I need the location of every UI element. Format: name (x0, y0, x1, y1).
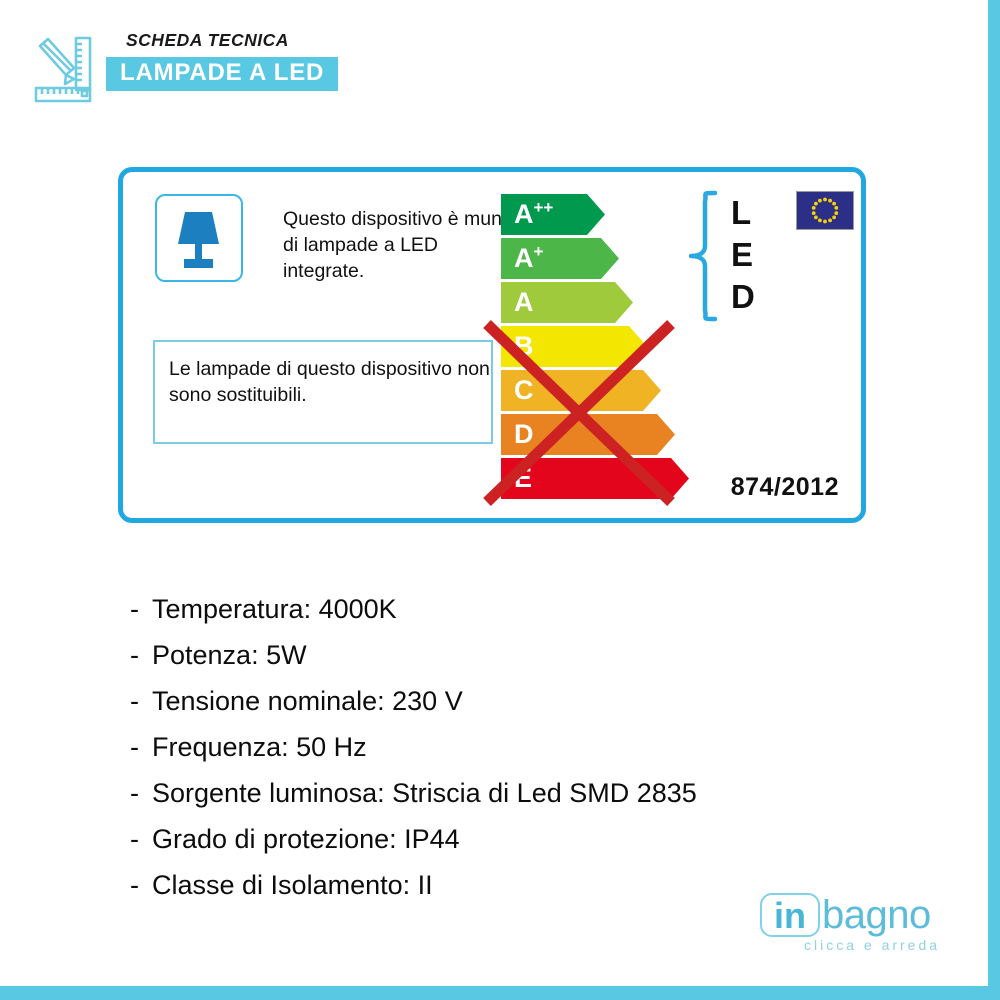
energy-bar-label: A+ (514, 238, 543, 279)
pencil-ruler-icon (28, 32, 102, 106)
energy-bar-row: C (501, 370, 701, 411)
spec-item-potenza: -Potenza: 5W (130, 632, 930, 678)
spec-bullet: - (130, 770, 152, 816)
spec-item-temperatura: -Temperatura: 4000K (130, 586, 930, 632)
page-title: LAMPADE A LED (106, 57, 338, 91)
led-letter-e: E (731, 234, 777, 276)
led-letter-l: L (731, 192, 777, 234)
spec-text: Potenza: 5W (152, 640, 307, 670)
spec-item-grado-protezione: -Grado di protezione: IP44 (130, 816, 930, 862)
energy-bar-b: B (501, 326, 701, 367)
energy-bar-row: A (501, 282, 701, 323)
energy-bar-label: A (514, 282, 534, 323)
energy-bar-a-plus-plus: A++ (501, 194, 701, 235)
logo-mark-in: in (760, 893, 820, 937)
frame-bottom-edge (0, 986, 1000, 1000)
header-texts: SCHEDA TECNICA LAMPADE A LED (106, 28, 446, 91)
energy-bar-row: A+ (501, 238, 701, 279)
page-eyebrow: SCHEDA TECNICA (106, 28, 446, 52)
spec-item-tensione: -Tensione nominale: 230 V (130, 678, 930, 724)
spec-bullet: - (130, 724, 152, 770)
led-letters: L E D (731, 192, 777, 318)
energy-class-scale: A++ A+ A (501, 194, 701, 512)
inbagno-logo[interactable]: in bagno clicca e arreda (760, 893, 956, 957)
eu-flag-icon (796, 191, 854, 230)
energy-bar-row: A++ (501, 194, 701, 235)
led-integrated-note: Questo dispositivo è munito di lampade a… (283, 206, 523, 284)
energy-bar-d: D (501, 414, 701, 455)
spec-text: Grado di protezione: IP44 (152, 824, 460, 854)
not-replaceable-text: Le lampade di questo dispositivo non son… (155, 342, 491, 408)
logo-word-bagno: bagno (822, 893, 931, 937)
energy-bar-row: E (501, 458, 701, 499)
energy-bar-label: A++ (514, 194, 553, 235)
energy-bar-label: E (514, 458, 532, 499)
energy-bar-label: C (514, 370, 534, 411)
spec-text: Sorgente luminosa: Striscia di Led SMD 2… (152, 778, 697, 808)
led-letter-d: D (731, 276, 777, 318)
logo-wordmark: in bagno (760, 893, 956, 937)
spec-bullet: - (130, 816, 152, 862)
specification-list: -Temperatura: 4000K -Potenza: 5W -Tensio… (130, 586, 930, 908)
curly-brace-icon (685, 190, 729, 322)
not-replaceable-box: Le lampade di questo dispositivo non son… (153, 340, 493, 444)
spec-text: Tensione nominale: 230 V (152, 686, 463, 716)
spec-text: Frequenza: 50 Hz (152, 732, 367, 762)
energy-bar-row: B (501, 326, 701, 367)
spec-text: Temperatura: 4000K (152, 594, 397, 624)
energy-bar-label: D (514, 414, 534, 455)
energy-bar-c: C (501, 370, 701, 411)
spec-text: Classe di Isolamento: II (152, 870, 433, 900)
spec-bullet: - (130, 632, 152, 678)
energy-bar-a: A (501, 282, 701, 323)
spec-item-frequenza: -Frequenza: 50 Hz (130, 724, 930, 770)
logo-tagline: clicca e arreda (804, 937, 940, 953)
page-root: SCHEDA TECNICA LAMPADE A LED Questo disp… (0, 0, 1000, 1000)
energy-label-card: Questo dispositivo è munito di lampade a… (118, 167, 866, 523)
energy-bar-label: B (514, 326, 534, 367)
spec-bullet: - (130, 678, 152, 724)
energy-bar-e: E (501, 458, 701, 499)
spec-bullet: - (130, 862, 152, 908)
spec-bullet: - (130, 586, 152, 632)
regulation-number: 874/2012 (731, 473, 839, 502)
header: SCHEDA TECNICA LAMPADE A LED (28, 28, 448, 108)
table-lamp-icon (155, 194, 243, 282)
spec-item-sorgente-luminosa: -Sorgente luminosa: Striscia di Led SMD … (130, 770, 930, 816)
frame-right-edge (988, 0, 1000, 1000)
energy-bar-row: D (501, 414, 701, 455)
energy-bar-a-plus: A+ (501, 238, 701, 279)
